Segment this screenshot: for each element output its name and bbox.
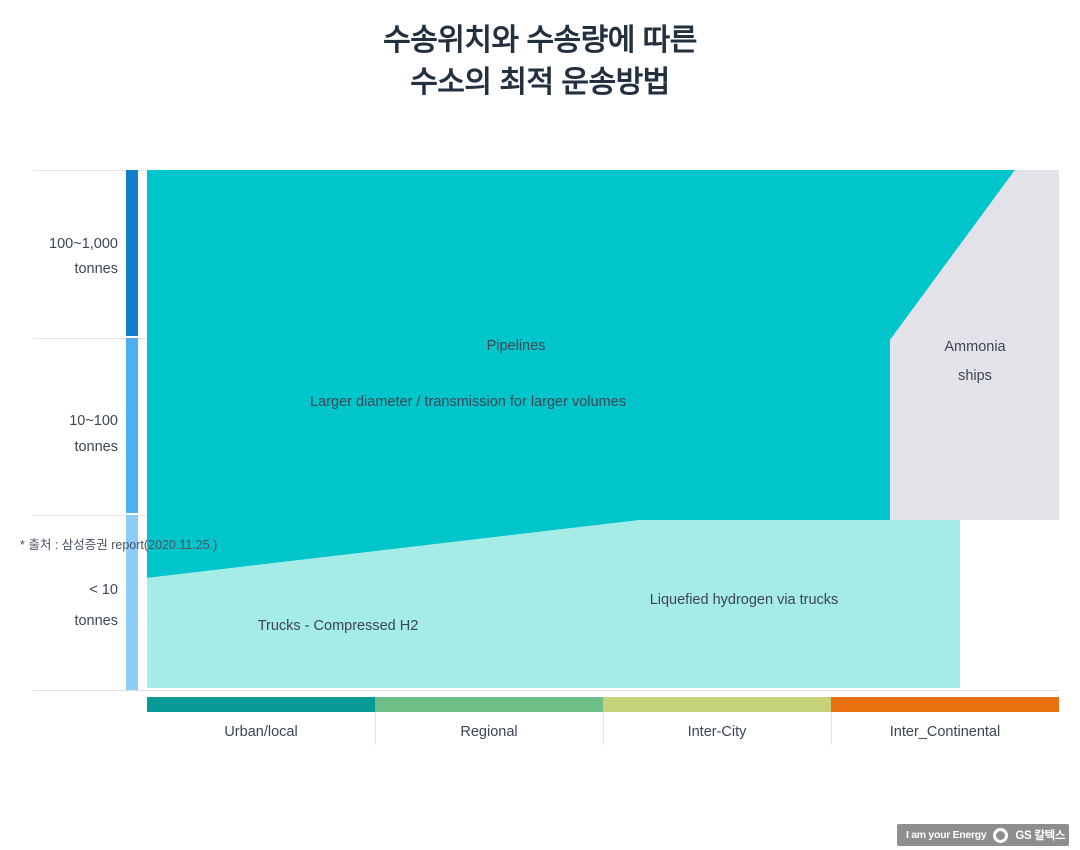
x-axis: Urban/local Regional Inter-City Inter_Co… — [147, 697, 1059, 747]
x-axis-baseline — [33, 690, 1059, 691]
y-axis-label-100-1000-unit: tonnes — [8, 257, 118, 282]
y-axis-label-under-10-unit: tonnes — [8, 609, 118, 634]
plot-regions: Pipelines Larger diameter / transmission… — [147, 170, 1059, 690]
gs-caltex-logo-icon — [993, 828, 1008, 843]
x-axis-label-inter-city: Inter-City — [603, 724, 831, 740]
source-note: * 출처 : 삼성증권 report(2020.11.25.) — [20, 534, 217, 553]
y-axis-label-10-100: 10~100 — [8, 409, 118, 434]
y-axis-label-10-100-unit: tonnes — [8, 435, 118, 460]
x-swatch-regional — [375, 697, 603, 712]
x-swatch-urban-local — [147, 697, 375, 712]
y-axis-color-bars — [126, 170, 138, 690]
logo-brand-name: GS 칼텍스 — [1015, 827, 1065, 843]
y-axis-label-100-1000: 100~1,000 — [8, 232, 118, 257]
x-axis-label-inter-continental: Inter_Continental — [831, 724, 1059, 740]
x-axis-label-urban-local: Urban/local — [147, 724, 375, 740]
y-bar-10-100-tonnes — [126, 338, 138, 513]
chart-area: 100~1,000 tonnes 10~100 tonnes < 10 tonn… — [0, 0, 1080, 850]
x-axis-label-regional: Regional — [375, 724, 603, 740]
x-swatch-inter-continental — [831, 697, 1059, 712]
region-pipelines-shape — [147, 170, 1015, 578]
y-bar-100-1000-tonnes — [126, 170, 138, 336]
logo-tagline: I am your Energy — [906, 829, 986, 841]
x-swatch-inter-city — [603, 697, 831, 712]
gs-caltex-logo: I am your Energy GS 칼텍스 — [897, 824, 1069, 846]
y-axis-label-under-10: < 10 — [8, 578, 118, 603]
